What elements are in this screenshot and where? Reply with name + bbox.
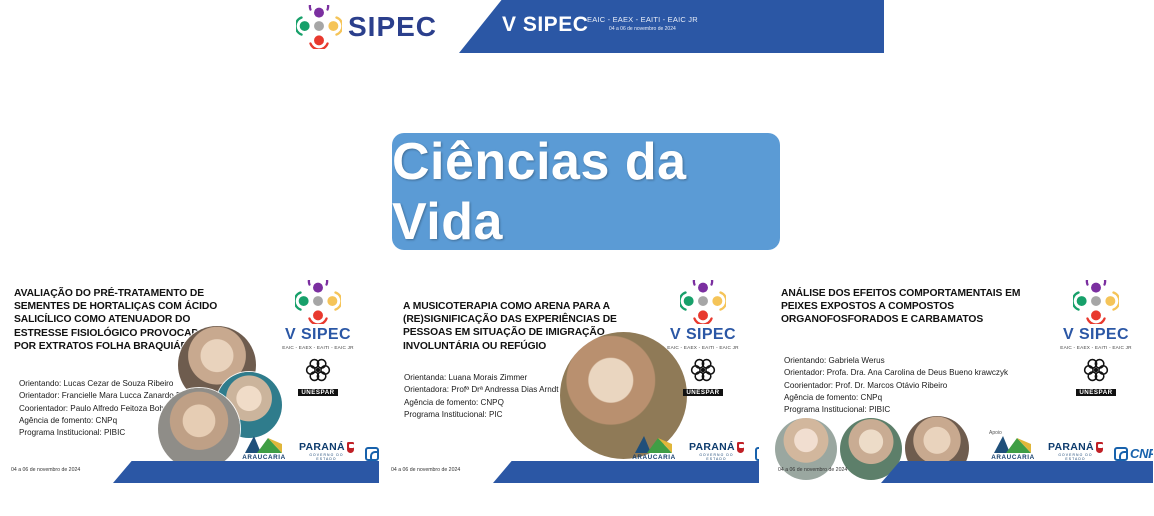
sponsor-name: PARANÁ xyxy=(689,441,735,453)
sponsor-cnpq-logo: CNPq xyxy=(755,446,759,461)
sponsor-subtitle: GOVERNO DO ESTADO xyxy=(299,453,354,461)
sponsor-logos: ARAUCARIA PARANÁ GOVERNO DO ESTADO CNPq xyxy=(630,434,759,461)
sponsor-name: CNPq xyxy=(1130,446,1153,461)
poster-meta-line: Orientando: Lucas Cezar de Souza Ribeiro xyxy=(19,378,197,390)
sponsor-cnpq-logo: CNPq xyxy=(1114,446,1153,461)
section-title: Ciências da Vida xyxy=(392,132,780,252)
cnpq-mark-icon xyxy=(365,447,379,461)
event-logo-title: V SIPEC xyxy=(272,326,364,344)
sipec-logo-icon xyxy=(680,280,726,324)
participant-photo xyxy=(158,388,240,470)
sponsor-parana-logo: PARANÁ GOVERNO DO ESTADO xyxy=(689,441,744,461)
sponsor-name: PARANÁ xyxy=(1048,441,1094,453)
poster-metadata: Orientanda: Luana Morais Zimmer Orientad… xyxy=(404,372,558,421)
poster-meta-line: Orientador: Profa. Dra. Ana Carolina de … xyxy=(784,367,1008,379)
footer-blue-bar xyxy=(881,461,1153,483)
unespar-flower-icon xyxy=(305,357,331,388)
poster-meta-line: Orientadora: Profª Drª Andressa Dias Arn… xyxy=(404,384,558,396)
sponsor-araucaria-logo: ARAUCARIA xyxy=(240,434,288,461)
event-logo-title: V SIPEC xyxy=(1050,326,1142,344)
event-banner: SIPEC V SIPEC EAIC - EAEX - EAITI - EAIC… xyxy=(284,0,884,53)
university-name: UNESPAR xyxy=(683,389,722,396)
sipec-logo-icon xyxy=(1073,280,1119,324)
sponsor-cnpq-logo: CNPq xyxy=(365,446,379,461)
poster-card[interactable]: A MUSICOTERAPIA COMO ARENA PARA A (RE)SI… xyxy=(380,278,759,483)
poster-meta-line: Orientando: Gabriela Werus xyxy=(784,355,1008,367)
parana-shield-icon xyxy=(737,442,744,453)
poster-footer: 04 a 06 de novembro de 2024 xyxy=(0,461,379,483)
parana-wordmark: PARANÁ xyxy=(1048,441,1103,453)
sponsor-logos: ARAUCARIA PARANÁ GOVERNO DO ESTADO CNPq xyxy=(240,434,379,461)
event-logo-subtitle: EAIC - EAEX - EAITI - EAIC JR xyxy=(272,345,364,350)
university-name: UNESPAR xyxy=(1076,389,1115,396)
poster-meta-line: Programa Institucional: PIBIC xyxy=(784,404,1008,416)
parana-wordmark: PARANÁ xyxy=(299,441,354,453)
poster-metadata: Orientando: Gabriela Werus Orientador: P… xyxy=(784,355,1008,416)
araucaria-mountain-icon xyxy=(990,434,1036,454)
poster-footer: 04 a 06 de novembro de 2024 xyxy=(767,461,1153,483)
footer-date: 04 a 06 de novembro de 2024 xyxy=(11,467,80,473)
banner-subtitle-acronyms: EAIC - EAEX - EAITI - EAIC JR xyxy=(587,15,698,24)
sponsor-name: ARAUCARIA xyxy=(240,454,288,461)
event-logo-subtitle: EAIC - EAEX - EAITI - EAIC JR xyxy=(657,345,749,350)
sponsor-subtitle: GOVERNO DO ESTADO xyxy=(1048,453,1103,461)
araucaria-mountain-icon xyxy=(241,434,287,454)
sponsor-parana-logo: PARANÁ GOVERNO DO ESTADO xyxy=(1048,441,1103,461)
footer-blue-bar xyxy=(113,461,379,483)
event-logo-subtitle: EAIC - EAEX - EAITI - EAIC JR xyxy=(1050,345,1142,350)
section-banner: Ciências da Vida xyxy=(392,133,780,250)
event-logo-block: V SIPEC EAIC - EAEX - EAITI - EAIC JR UN… xyxy=(657,280,749,396)
banner-subtitle: EAIC - EAEX - EAITI - EAIC JR 04 a 06 de… xyxy=(587,15,698,32)
sponsor-logos: ARAUCARIA PARANÁ GOVERNO DO ESTADO CNPq xyxy=(989,434,1153,461)
university-name: UNESPAR xyxy=(298,389,337,396)
sponsor-araucaria-logo: ARAUCARIA xyxy=(630,434,678,461)
footer-blue-bar xyxy=(493,461,759,483)
parana-wordmark: PARANÁ xyxy=(689,441,744,453)
university-logo: UNESPAR xyxy=(657,357,749,396)
footer-date: 04 a 06 de novembro de 2024 xyxy=(391,467,460,473)
parana-shield-icon xyxy=(1096,442,1103,453)
poster-meta-line: Agência de fomento: CNPq xyxy=(784,392,1008,404)
banner-event-title: V SIPEC xyxy=(502,13,588,37)
sipec-logo-icon xyxy=(295,280,341,324)
araucaria-mountain-icon xyxy=(631,434,677,454)
sipec-logo-icon xyxy=(296,5,342,49)
poster-meta-line: Orientanda: Luana Morais Zimmer xyxy=(404,372,558,384)
sponsor-parana-logo: PARANÁ GOVERNO DO ESTADO xyxy=(299,441,354,461)
cnpq-mark-icon xyxy=(1114,447,1128,461)
poster-card[interactable]: AVALIAÇÃO DO PRÉ-TRATAMENTO DE SEMENTES … xyxy=(0,278,379,483)
poster-meta-line: Agência de fomento: CNPQ xyxy=(404,397,558,409)
sponsor-name: ARAUCARIA xyxy=(630,454,678,461)
sponsor-araucaria-logo: ARAUCARIA xyxy=(989,434,1037,461)
unespar-flower-icon xyxy=(1083,357,1109,388)
event-logo-block: V SIPEC EAIC - EAEX - EAITI - EAIC JR UN… xyxy=(1050,280,1142,396)
event-logo-block: V SIPEC EAIC - EAEX - EAITI - EAIC JR UN… xyxy=(272,280,364,396)
poster-title: ANÁLISE DOS EFEITOS COMPORTAMENTAIS EM P… xyxy=(781,287,1036,327)
unespar-flower-icon xyxy=(690,357,716,388)
sipec-brand-text: SIPEC xyxy=(348,11,437,43)
university-logo: UNESPAR xyxy=(1050,357,1142,396)
banner-brand-area: SIPEC xyxy=(284,0,469,53)
footer-date: 04 a 06 de novembro de 2024 xyxy=(778,467,847,473)
poster-card-row: AVALIAÇÃO DO PRÉ-TRATAMENTO DE SEMENTES … xyxy=(0,278,1154,483)
banner-subtitle-dates: 04 a 06 de novembro de 2024 xyxy=(587,26,698,32)
sponsor-subtitle: GOVERNO DO ESTADO xyxy=(689,453,744,461)
event-logo-title: V SIPEC xyxy=(657,326,749,344)
sponsor-name: ARAUCARIA xyxy=(989,454,1037,461)
sponsor-name: PARANÁ xyxy=(299,441,345,453)
university-logo: UNESPAR xyxy=(272,357,364,396)
poster-card[interactable]: ANÁLISE DOS EFEITOS COMPORTAMENTAIS EM P… xyxy=(767,278,1153,483)
poster-meta-line: Programa Institucional: PIC xyxy=(404,409,558,421)
parana-shield-icon xyxy=(347,442,354,453)
cnpq-mark-icon xyxy=(755,447,759,461)
poster-footer: 04 a 06 de novembro de 2024 xyxy=(380,461,759,483)
poster-meta-line: Coorientador: Prof. Dr. Marcos Otávio Ri… xyxy=(784,380,1008,392)
